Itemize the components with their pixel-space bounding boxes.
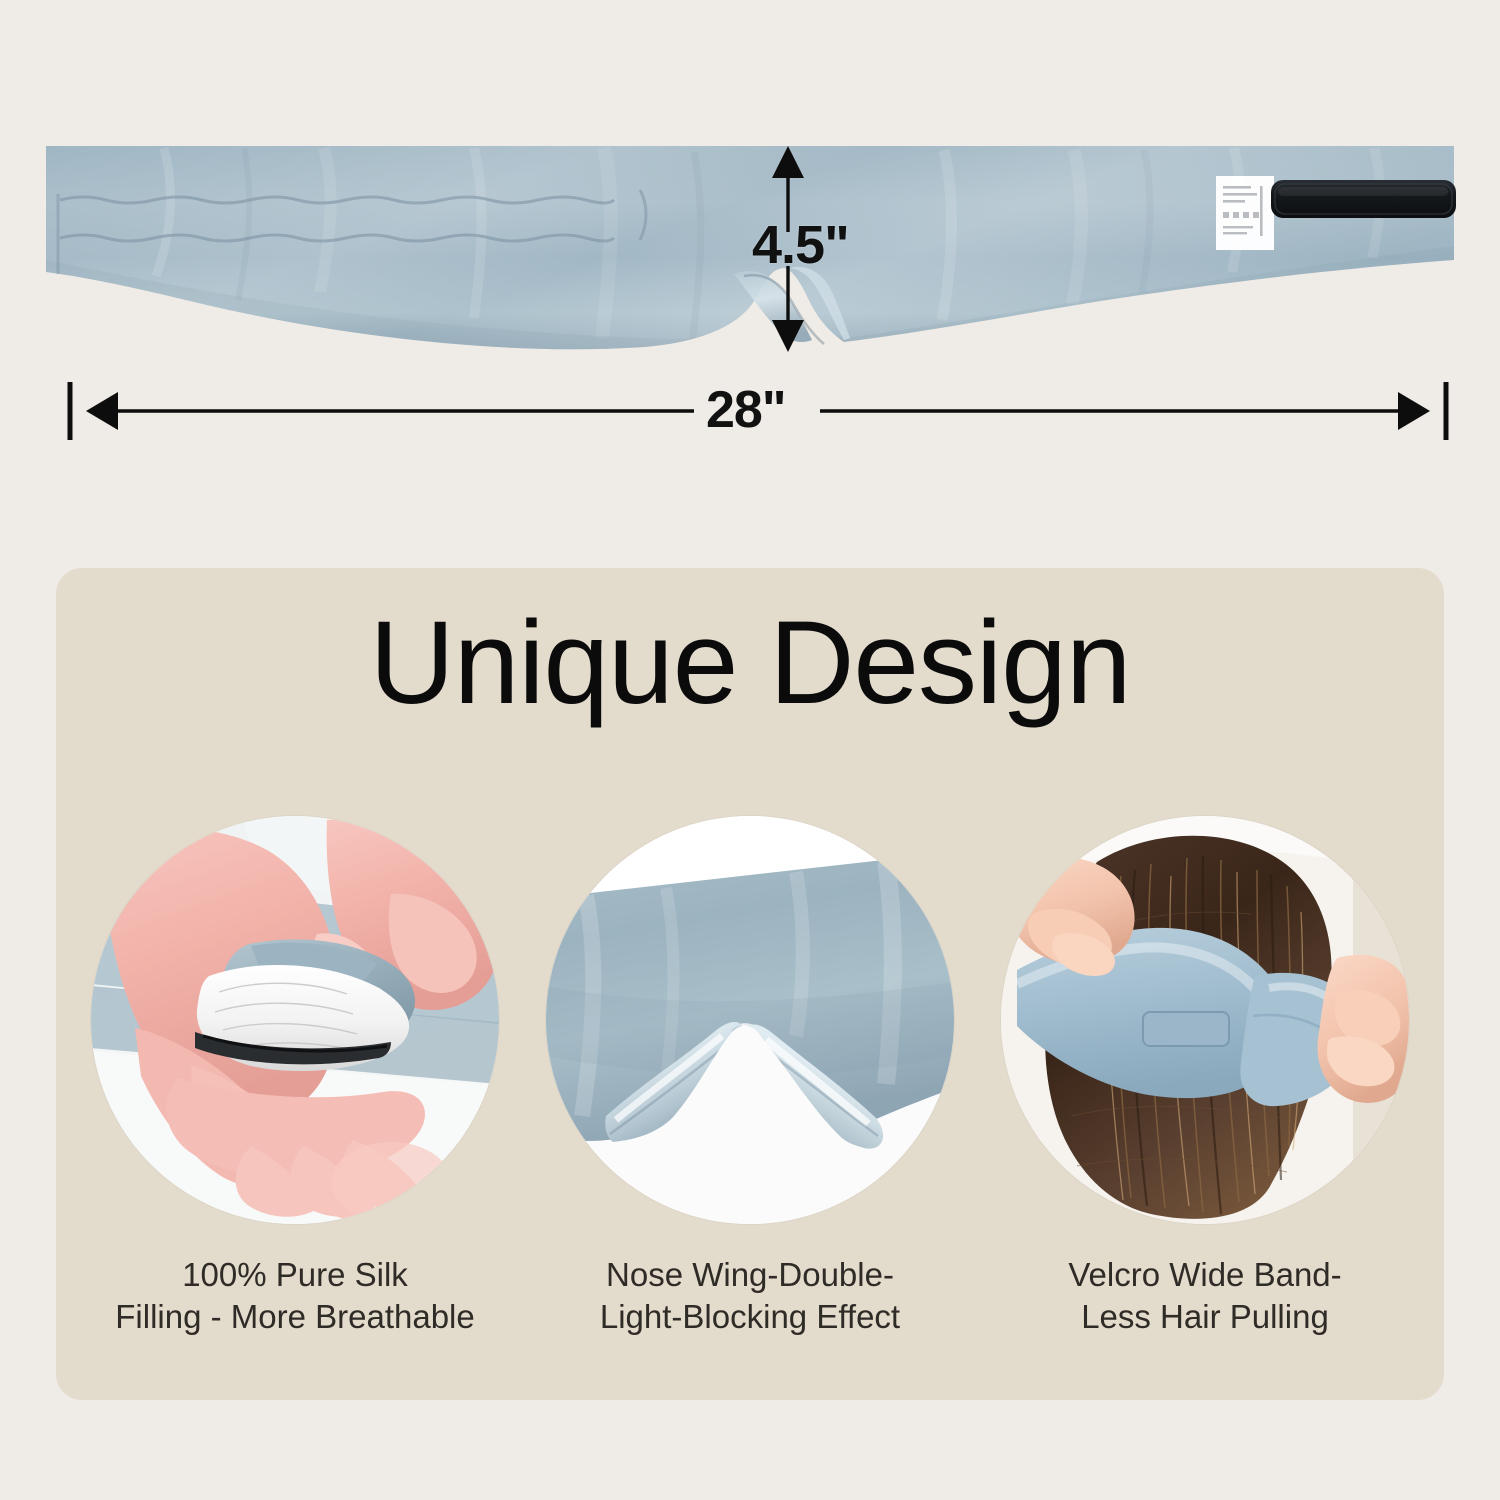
caption-line-2: Light-Blocking Effect — [600, 1296, 900, 1338]
infographic-stage: 4.5" 28" Unique Design — [0, 0, 1500, 1500]
feature-image-velcro-band — [1001, 816, 1409, 1224]
product-dimension-section: 4.5" 28" — [0, 0, 1500, 560]
unique-design-panel: Unique Design — [56, 568, 1444, 1400]
feature-caption-nose-wing: Nose Wing-Double- Light-Blocking Effect — [600, 1254, 900, 1337]
nose-wing-closeup-photo — [546, 816, 954, 1224]
feature-item-velcro-band: Velcro Wide Band- Less Hair Pulling — [990, 816, 1420, 1337]
velcro-strip — [1271, 180, 1456, 218]
panel-title: Unique Design — [56, 600, 1444, 727]
sleep-mask-illustration — [44, 142, 1456, 362]
feature-item-nose-wing: Nose Wing-Double- Light-Blocking Effect — [535, 816, 965, 1337]
hands-holding-silk-filling-photo — [91, 816, 499, 1224]
velcro-wide-band-back-of-head-photo — [1001, 816, 1409, 1224]
caption-line-2: Filling - More Breathable — [115, 1296, 475, 1338]
feature-caption-velcro-band: Velcro Wide Band- Less Hair Pulling — [1068, 1254, 1341, 1337]
product-photo-silk-sleep-mask — [44, 142, 1456, 362]
width-dimension-label: 28" — [706, 384, 786, 436]
height-dimension-label: 4.5" — [752, 218, 849, 272]
feature-image-silk-filling — [91, 816, 499, 1224]
caption-line-2: Less Hair Pulling — [1068, 1296, 1341, 1338]
feature-item-silk-filling: 100% Pure Silk Filling - More Breathable — [80, 816, 510, 1337]
caption-line-1: Velcro Wide Band- — [1068, 1254, 1341, 1296]
care-label-tag — [1216, 176, 1274, 250]
feature-caption-silk-filling: 100% Pure Silk Filling - More Breathable — [115, 1254, 475, 1337]
caption-line-1: Nose Wing-Double- — [600, 1254, 900, 1296]
feature-list: 100% Pure Silk Filling - More Breathable — [80, 816, 1420, 1376]
caption-line-1: 100% Pure Silk — [115, 1254, 475, 1296]
feature-image-nose-wing — [546, 816, 954, 1224]
